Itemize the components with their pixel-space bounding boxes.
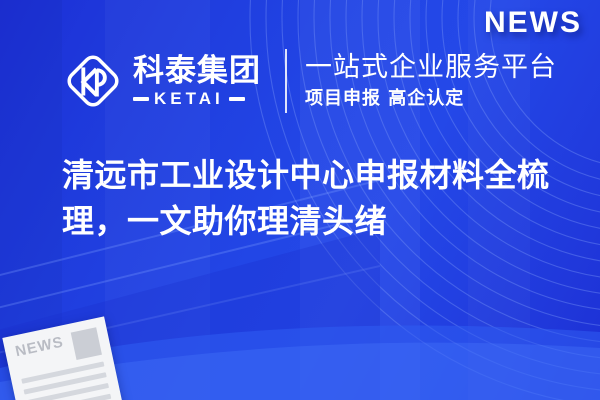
brand-name-en-row: KETAI: [133, 90, 261, 107]
newspaper-title: NEWS: [14, 334, 65, 359]
newspaper-thumbnail: [71, 327, 102, 360]
ketai-logo-icon: [62, 50, 124, 112]
brand-wordmark: 科泰集团 KETAI: [133, 55, 261, 108]
news-badge: NEWS: [484, 6, 582, 40]
header-divider: [285, 49, 287, 113]
brand-name-cn: 科泰集团: [133, 55, 261, 88]
tagline-block: 一站式企业服务平台 项目申报 高企认定: [305, 52, 557, 110]
banner-header: 科泰集团 KETAI 一站式企业服务平台 项目申报 高企认定: [62, 42, 557, 120]
headline-title: 清远市工业设计中心申报材料全梳理，一文助你理清头绪: [62, 152, 562, 245]
wordmark-dash-left: [133, 97, 149, 101]
tagline-main: 一站式企业服务平台: [305, 52, 557, 83]
wordmark-dash-right: [229, 97, 245, 101]
tagline-sub: 项目申报 高企认定: [305, 87, 557, 110]
newspaper-illustration: NEWS: [2, 316, 125, 400]
brand-name-en: KETAI: [154, 90, 224, 107]
news-banner: NEWS 科泰集团 KETAI: [0, 0, 600, 400]
